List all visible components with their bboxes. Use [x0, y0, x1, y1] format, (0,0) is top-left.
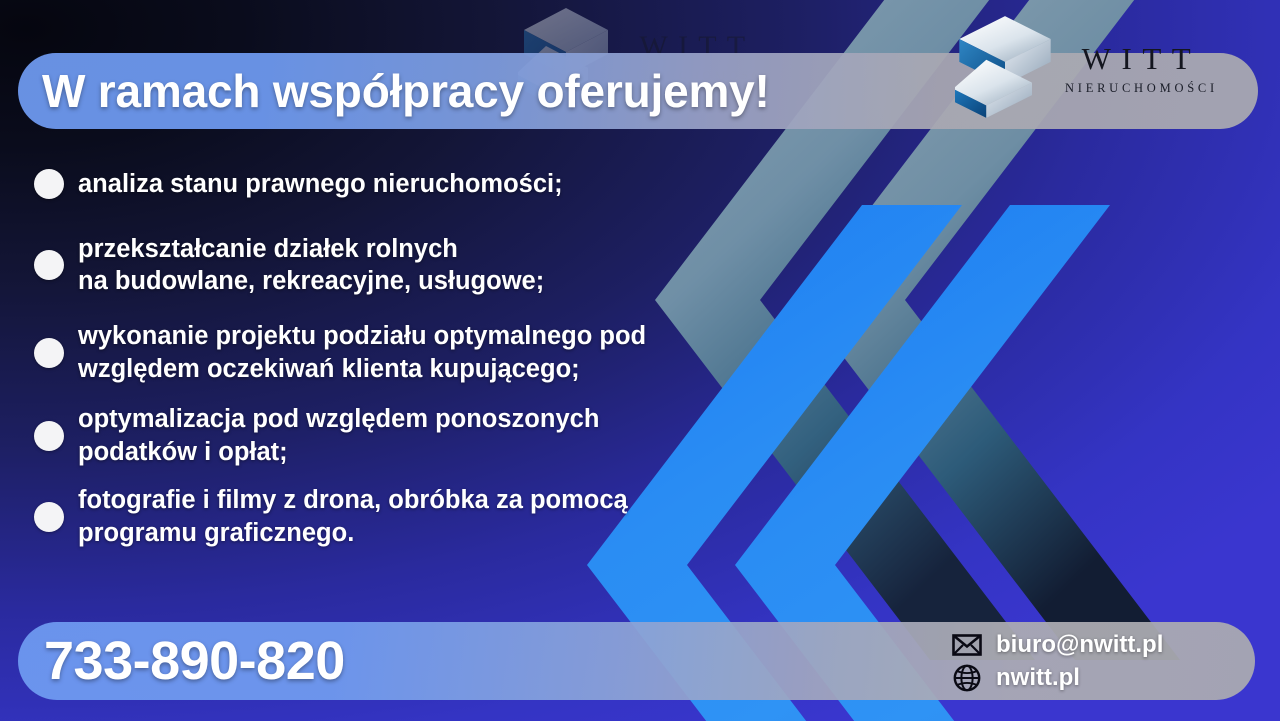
website-url: nwitt.pl — [996, 664, 1080, 692]
bullet-dot-icon — [34, 502, 64, 532]
bullet-dot-icon — [34, 421, 64, 451]
list-item-text: analiza stanu prawnego nieruchomości; — [78, 168, 563, 201]
email-row[interactable]: biuro@nwitt.pl — [952, 631, 1163, 659]
isometric-blocks-logo-icon — [955, 12, 1055, 125]
website-row[interactable]: nwitt.pl — [952, 664, 1163, 692]
offer-list: analiza stanu prawnego nieruchomości; pr… — [34, 168, 824, 564]
list-item: przekształcanie działek rolnych na budow… — [34, 233, 824, 298]
list-item-line: wykonanie projektu podziału optymalnego … — [78, 320, 646, 353]
brand-tagline: NIERUCHOMOŚCI — [1065, 82, 1218, 95]
brand-wordmark: WITT NIERUCHOMOŚCI — [1065, 43, 1218, 95]
list-item-text: optymalizacja pod względem ponoszonych p… — [78, 403, 599, 468]
phone-number[interactable]: 733-890-820 — [44, 624, 345, 698]
list-item-line: podatków i opłat; — [78, 436, 599, 469]
email-address: biuro@nwitt.pl — [996, 631, 1163, 659]
brand-logo[interactable]: WITT NIERUCHOMOŚCI — [955, 12, 1218, 125]
bullet-dot-icon — [34, 338, 64, 368]
brand-name: WITT — [1082, 43, 1202, 74]
list-item-line: analiza stanu prawnego nieruchomości; — [78, 168, 563, 201]
list-item-text: przekształcanie działek rolnych na budow… — [78, 233, 544, 298]
list-item-line: programu graficznego. — [78, 517, 628, 550]
contact-details: biuro@nwitt.pl nwitt.pl — [952, 624, 1163, 698]
list-item-line: fotografie i filmy z drona, obróbka za p… — [78, 484, 628, 517]
list-item-line: na budowlane, rekreacyjne, usługowe; — [78, 265, 544, 298]
list-item-text: wykonanie projektu podziału optymalnego … — [78, 320, 646, 385]
list-item: optymalizacja pod względem ponoszonych p… — [34, 403, 824, 468]
poster-canvas: WITT NIERUCHOMOŚCI W ramach współpracy o… — [0, 0, 1280, 721]
envelope-icon — [952, 632, 982, 658]
bullet-dot-icon — [34, 250, 64, 280]
list-item: wykonanie projektu podziału optymalnego … — [34, 320, 824, 385]
list-item-line: optymalizacja pod względem ponoszonych — [78, 403, 599, 436]
list-item: analiza stanu prawnego nieruchomości; — [34, 168, 824, 201]
list-item: fotografie i filmy z drona, obróbka za p… — [34, 484, 824, 549]
bullet-dot-icon — [34, 169, 64, 199]
globe-icon — [952, 665, 982, 691]
list-item-line: przekształcanie działek rolnych — [78, 233, 544, 266]
list-item-line: względem oczekiwań klienta kupującego; — [78, 353, 646, 386]
list-item-text: fotografie i filmy z drona, obróbka za p… — [78, 484, 628, 549]
